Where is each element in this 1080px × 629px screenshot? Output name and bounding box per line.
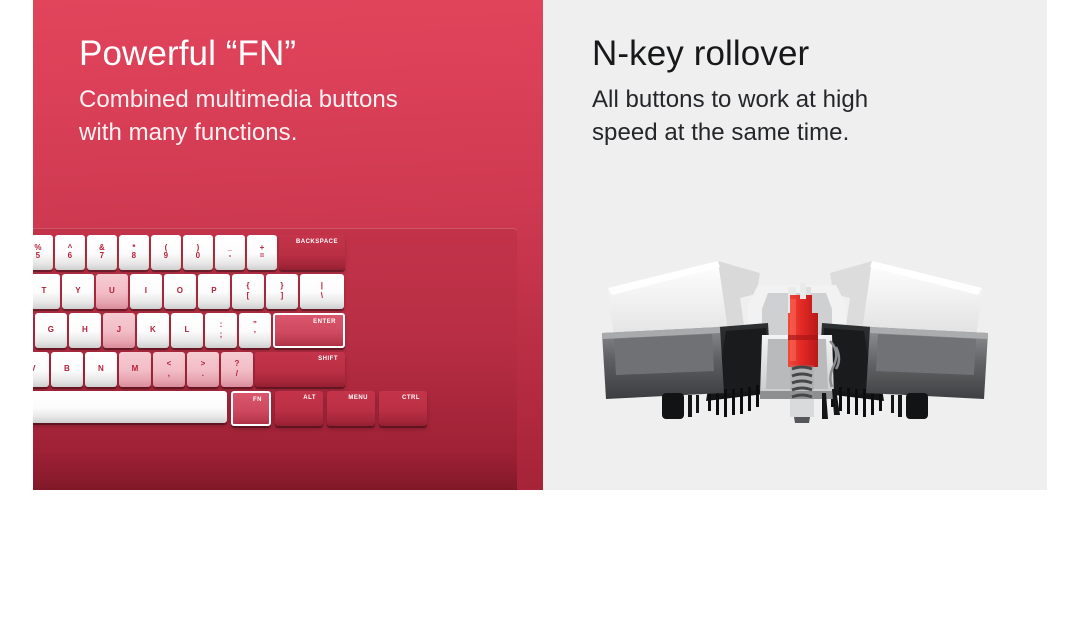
- key-legend-lower: ’: [254, 331, 256, 339]
- key-face: %5: [33, 235, 53, 270]
- key-legend-main: H: [82, 326, 88, 334]
- key-i[interactable]: I: [130, 274, 162, 309]
- key-legend-main: -: [229, 252, 232, 260]
- key-legend-main: 9: [164, 252, 169, 260]
- left-subline-line1: Combined multimedia buttons: [79, 83, 539, 116]
- key-blank[interactable]: }]: [266, 274, 298, 309]
- key-face: O: [164, 274, 196, 309]
- right-text-block: N-key rollover All buttons to work at hi…: [592, 33, 1032, 150]
- key-legend-main: B: [64, 365, 70, 373]
- key-legend-upper: }: [280, 282, 283, 290]
- key-face: }]: [266, 274, 298, 309]
- key-legend-lower: ]: [281, 292, 284, 300]
- key-legend: ENTER: [313, 319, 336, 325]
- key-blank[interactable]: |\: [300, 274, 344, 309]
- key-legend-main: J: [117, 326, 122, 334]
- key-blank[interactable]: >.: [187, 352, 219, 387]
- key-legend-main: P: [211, 287, 217, 295]
- key-legend-main: I: [145, 287, 147, 295]
- key-face: _-: [215, 235, 245, 270]
- key-alt[interactable]: ALT: [275, 391, 323, 426]
- key-face: (9: [151, 235, 181, 270]
- key-l[interactable]: L: [171, 313, 203, 348]
- key-m[interactable]: M: [119, 352, 151, 387]
- key-face: M: [119, 352, 151, 387]
- key-face: )0: [183, 235, 213, 270]
- key-face: T: [33, 274, 60, 309]
- key-legend-main: N: [98, 365, 104, 373]
- key-o[interactable]: O: [164, 274, 196, 309]
- key-face: G: [35, 313, 67, 348]
- key-legend: SHIFT: [318, 356, 338, 362]
- key-legend-lower: ,: [168, 370, 170, 378]
- key-legend-main: 6: [68, 252, 73, 260]
- key-face: >.: [187, 352, 219, 387]
- key-legend-main: Y: [75, 287, 81, 295]
- right-switch-base: [866, 327, 988, 419]
- keyboard-deck: %5^6&7*8(9)0_-+=BACKSPACERTYUIOP{[}]|\FG…: [33, 228, 517, 460]
- key-legend-main: U: [109, 287, 115, 295]
- mechanical-keyboard-photo: %5^6&7*8(9)0_-+=BACKSPACERTYUIOP{[}]|\FG…: [33, 228, 543, 490]
- key-5[interactable]: %5: [33, 235, 53, 270]
- key-backspace[interactable]: BACKSPACE: [279, 235, 345, 270]
- key-face: {[: [232, 274, 264, 309]
- key-blank[interactable]: _-: [215, 235, 245, 270]
- key-legend-main: 5: [36, 252, 41, 260]
- key-legend-main: G: [48, 326, 54, 334]
- key-j[interactable]: J: [103, 313, 135, 348]
- keyboard-row-qwerty: RTYUIOP{[}]|\: [33, 274, 517, 311]
- mechanical-switch-cutaway: [600, 243, 990, 448]
- key-t[interactable]: T: [33, 274, 60, 309]
- key-face: FN: [233, 393, 269, 424]
- key-face: I: [130, 274, 162, 309]
- key-legend-upper: ”: [253, 321, 257, 329]
- key-k[interactable]: K: [137, 313, 169, 348]
- key-legend-upper: ?: [234, 360, 239, 368]
- right-subline-line1: All buttons to work at high: [592, 83, 1032, 116]
- key-face: <,: [153, 352, 185, 387]
- key-v[interactable]: V: [33, 352, 49, 387]
- keyboard-row-bottom: FNALTMENUCTRL: [33, 391, 517, 428]
- key-legend-lower: [: [247, 292, 250, 300]
- keyboard-case-base: [33, 454, 517, 490]
- key-face: H: [69, 313, 101, 348]
- key-legend-main: =: [260, 252, 265, 260]
- key-face: U: [96, 274, 128, 309]
- key-face: B: [51, 352, 83, 387]
- key-h[interactable]: H: [69, 313, 101, 348]
- keyboard-row-digits: %5^6&7*8(9)0_-+=BACKSPACE: [33, 235, 517, 272]
- key-face: SHIFT: [255, 352, 345, 387]
- key-y[interactable]: Y: [62, 274, 94, 309]
- switch-svg: [600, 243, 990, 448]
- key-legend-main: T: [41, 287, 46, 295]
- key-enter[interactable]: ENTER: [273, 313, 345, 348]
- key-shift[interactable]: SHIFT: [255, 352, 345, 387]
- key-9[interactable]: (9: [151, 235, 181, 270]
- key-face: P: [198, 274, 230, 309]
- key-legend-main: V: [33, 365, 36, 373]
- key-face: K: [137, 313, 169, 348]
- key-legend-main: O: [177, 287, 183, 295]
- key-8[interactable]: *8: [119, 235, 149, 270]
- key-legend: FN: [253, 397, 262, 403]
- key-legend-upper: <: [167, 360, 172, 368]
- key-legend-lower: \: [321, 292, 323, 300]
- key-face: *8: [119, 235, 149, 270]
- key-menu[interactable]: MENU: [327, 391, 375, 426]
- keyboard-row-home: FGHJKL:;”’ENTER: [33, 313, 517, 350]
- keyboard-row-zxcv: CVBNM<,>.?/SHIFT: [33, 352, 517, 389]
- key-legend-main: M: [132, 365, 139, 373]
- key-face: N: [85, 352, 117, 387]
- left-switch-base: [602, 327, 724, 419]
- key-legend: BACKSPACE: [296, 239, 338, 245]
- key-n[interactable]: N: [85, 352, 117, 387]
- key-g[interactable]: G: [35, 313, 67, 348]
- key-legend-upper: {: [246, 282, 249, 290]
- key-face: [33, 391, 227, 423]
- key-legend-main: 8: [132, 252, 137, 260]
- key-legend: ALT: [303, 395, 316, 401]
- key-face: ^6: [55, 235, 85, 270]
- key-face: L: [171, 313, 203, 348]
- key-space[interactable]: [33, 391, 227, 423]
- key-face: ”’: [239, 313, 271, 348]
- key-blank[interactable]: :;: [205, 313, 237, 348]
- left-headline: Powerful “FN”: [79, 33, 539, 74]
- key-ctrl[interactable]: CTRL: [379, 391, 427, 426]
- key-face: BACKSPACE: [279, 235, 345, 270]
- key-face: |\: [300, 274, 344, 309]
- key-legend-lower: /: [236, 370, 238, 378]
- key-0[interactable]: )0: [183, 235, 213, 270]
- key-7[interactable]: &7: [87, 235, 117, 270]
- key-face: &7: [87, 235, 117, 270]
- key-legend-main: K: [150, 326, 156, 334]
- key-face: +=: [247, 235, 277, 270]
- key-legend: CTRL: [402, 395, 420, 401]
- left-subline-line2: with many functions.: [79, 116, 539, 149]
- key-legend: MENU: [348, 395, 368, 401]
- key-legend-lower: .: [202, 370, 204, 378]
- promo-banner: Powerful “FN” Combined multimedia button…: [0, 0, 1080, 629]
- key-6[interactable]: ^6: [55, 235, 85, 270]
- key-face: :;: [205, 313, 237, 348]
- key-legend-upper: |: [321, 282, 323, 290]
- key-u[interactable]: U: [96, 274, 128, 309]
- key-face: ALT: [275, 391, 323, 426]
- key-p[interactable]: P: [198, 274, 230, 309]
- key-b[interactable]: B: [51, 352, 83, 387]
- key-face: CTRL: [379, 391, 427, 426]
- key-legend-upper: >: [201, 360, 206, 368]
- key-legend-lower: ;: [220, 331, 223, 339]
- key-blank[interactable]: ?/: [221, 352, 253, 387]
- key-face: ?/: [221, 352, 253, 387]
- key-face: MENU: [327, 391, 375, 426]
- key-face: Y: [62, 274, 94, 309]
- key-face: ENTER: [275, 315, 343, 346]
- key-legend-main: L: [184, 326, 189, 334]
- left-text-block: Powerful “FN” Combined multimedia button…: [79, 33, 539, 150]
- right-headline: N-key rollover: [592, 33, 1032, 74]
- key-legend-main: 7: [100, 252, 105, 260]
- key-blank[interactable]: {[: [232, 274, 264, 309]
- key-legend-upper: :: [220, 321, 223, 329]
- key-legend-main: 0: [196, 252, 201, 260]
- right-subline-line2: speed at the same time.: [592, 116, 1032, 149]
- key-face: J: [103, 313, 135, 348]
- key-blank[interactable]: ”’: [239, 313, 271, 348]
- key-blank[interactable]: +=: [247, 235, 277, 270]
- key-face: V: [33, 352, 49, 387]
- key-blank[interactable]: <,: [153, 352, 185, 387]
- key-fn[interactable]: FN: [231, 391, 271, 426]
